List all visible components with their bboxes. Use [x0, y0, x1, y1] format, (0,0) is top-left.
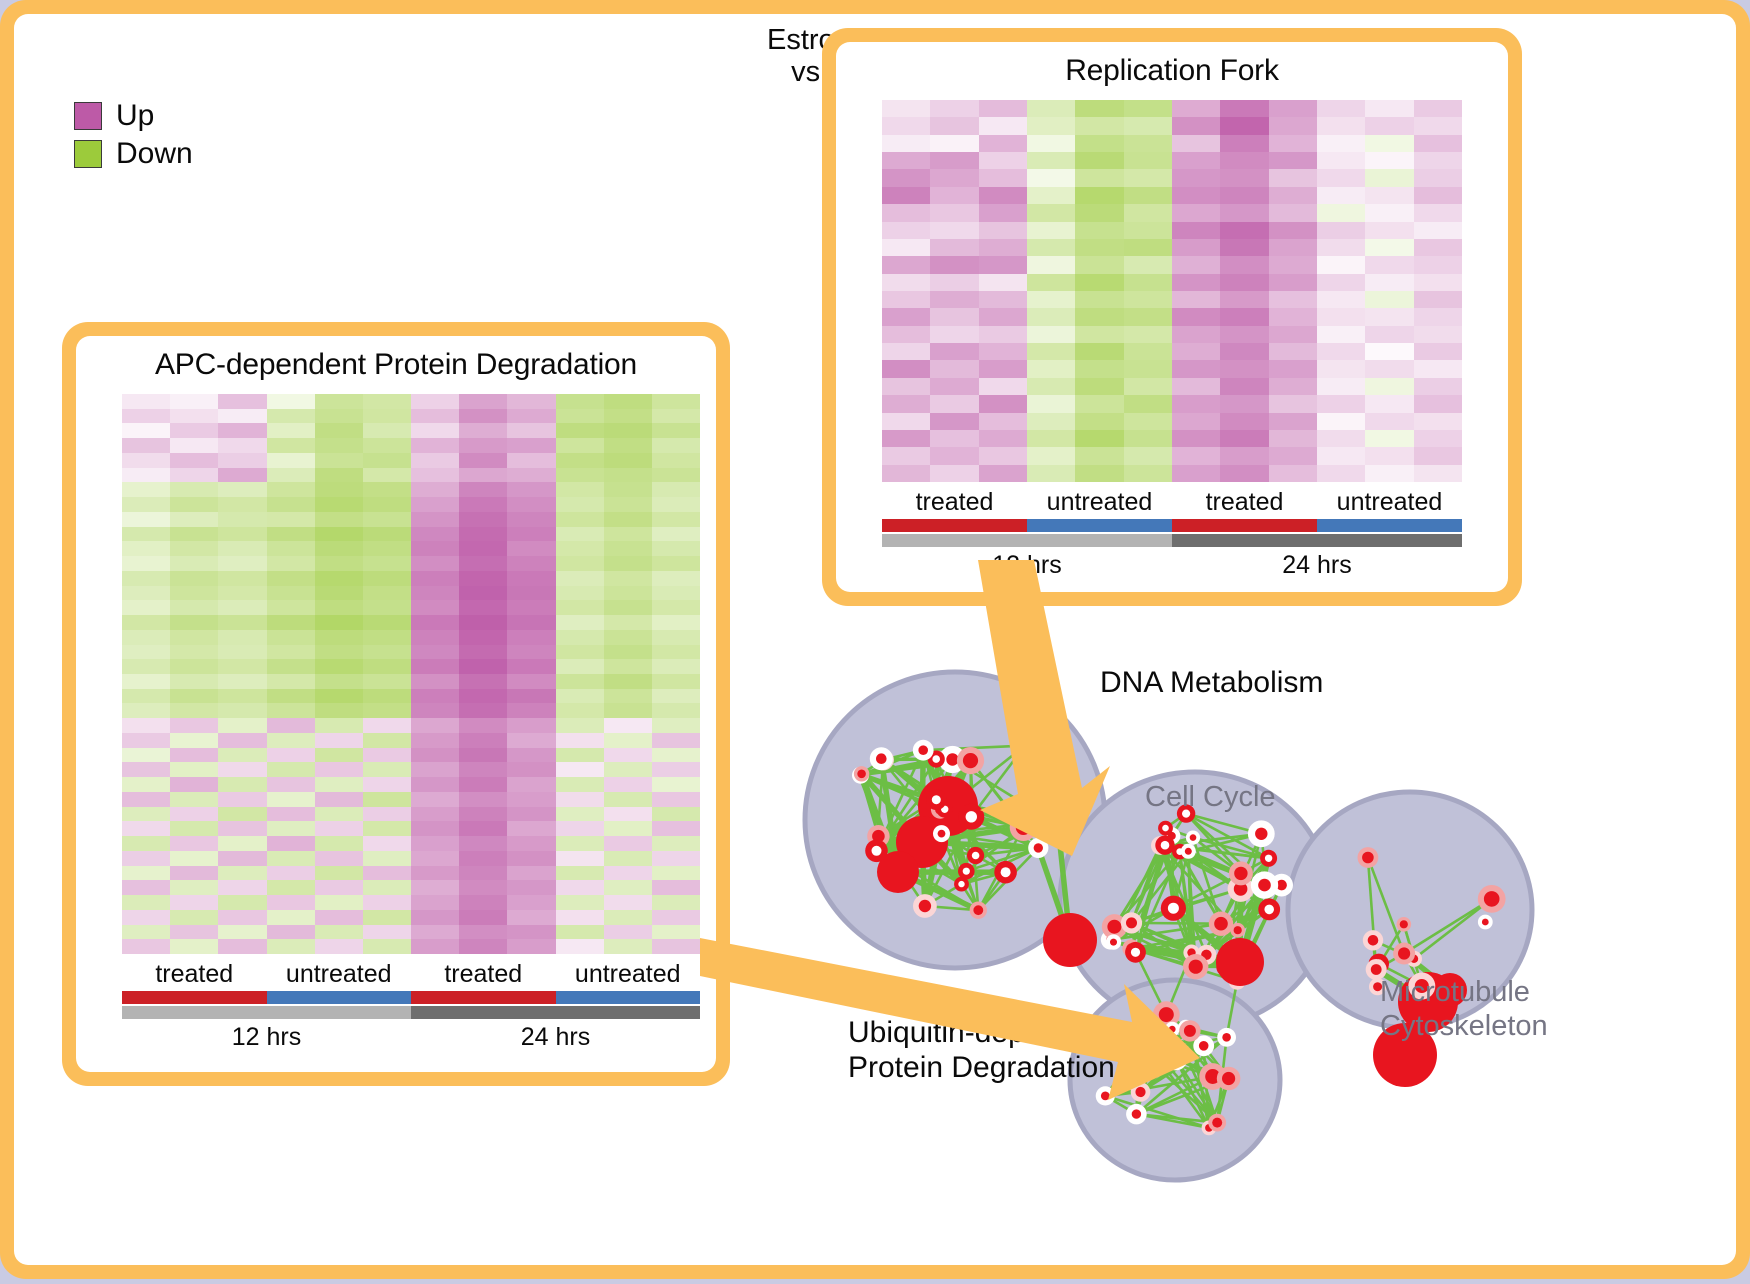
heat-cell [122, 674, 170, 689]
heat-cell [315, 453, 363, 468]
heat-cell [1124, 326, 1172, 343]
heat-cell [122, 762, 170, 777]
heat-cell [556, 453, 604, 468]
heat-cell [363, 807, 411, 822]
heat-cell [363, 438, 411, 453]
heat-cell [1414, 274, 1462, 291]
heat-cell [170, 423, 218, 438]
heat-cell [1317, 308, 1365, 325]
heat-cell [122, 807, 170, 822]
heat-cell [1365, 430, 1413, 447]
heat-cell [604, 571, 652, 586]
heat-cell [1027, 378, 1075, 395]
heat-cell [652, 939, 700, 954]
heat-cell [882, 447, 930, 464]
heat-cell [170, 674, 218, 689]
heat-cell [979, 100, 1027, 117]
heat-cell [604, 762, 652, 777]
heat-cell [604, 674, 652, 689]
heat-cell [459, 703, 507, 718]
heat-cell [218, 836, 266, 851]
heat-cell [930, 256, 978, 273]
heat-cell [979, 152, 1027, 169]
heat-cell [170, 571, 218, 586]
network-node[interactable] [1258, 899, 1280, 921]
heat-cell [1172, 256, 1220, 273]
heat-cell [507, 482, 555, 497]
heat-cell [170, 659, 218, 674]
heat-cell [556, 586, 604, 601]
heat-cell [1124, 291, 1172, 308]
heat-cell [1365, 274, 1413, 291]
heat-cell [267, 880, 315, 895]
heat-cell [267, 482, 315, 497]
heat-cell [363, 659, 411, 674]
heat-cell [507, 807, 555, 822]
heat-cell [556, 674, 604, 689]
heat-cell [1220, 222, 1268, 239]
heat-cell [507, 527, 555, 542]
heat-cell [507, 423, 555, 438]
heat-cell [170, 718, 218, 733]
heat-cell [652, 910, 700, 925]
heat-cell [218, 895, 266, 910]
heat-cell [604, 394, 652, 409]
heat-cell [1414, 413, 1462, 430]
heat-cell [218, 600, 266, 615]
heat-cell [363, 571, 411, 586]
heat-cell [882, 135, 930, 152]
heat-cell [507, 939, 555, 954]
heat-cell [507, 615, 555, 630]
heat-cell [267, 438, 315, 453]
heat-cell [1220, 395, 1268, 412]
network-node[interactable] [994, 861, 1017, 884]
heat-cell [1317, 360, 1365, 377]
network-node[interactable] [913, 740, 934, 761]
heat-cell [1365, 256, 1413, 273]
heat-cell [652, 615, 700, 630]
heat-cell [507, 409, 555, 424]
heat-cell [170, 851, 218, 866]
heat-cell [170, 586, 218, 601]
apc-panel-title: APC-dependent Protein Degradation [76, 336, 716, 382]
heat-cell [218, 910, 266, 925]
heat-cell [1027, 413, 1075, 430]
heat-cell [363, 409, 411, 424]
heat-cell [979, 239, 1027, 256]
heat-cell [122, 718, 170, 733]
heat-cell [411, 880, 459, 895]
heat-cell [411, 541, 459, 556]
heat-cell [1269, 465, 1317, 482]
heat-cell [1172, 308, 1220, 325]
heat-cell [652, 689, 700, 704]
heat-cell [411, 409, 459, 424]
heat-cell [218, 453, 266, 468]
heat-cell [930, 135, 978, 152]
apc-timepoint-bar [122, 1006, 700, 1019]
heat-cell [652, 453, 700, 468]
heat-cell [411, 394, 459, 409]
heat-cell [652, 394, 700, 409]
heat-cell [122, 512, 170, 527]
heat-cell [1220, 378, 1268, 395]
apc-time-label-12: 12 hrs [122, 1023, 411, 1052]
heat-cell [1365, 326, 1413, 343]
heat-cell [652, 836, 700, 851]
heat-cell [363, 939, 411, 954]
heat-cell [267, 925, 315, 940]
heat-cell [604, 733, 652, 748]
heat-cell [930, 152, 978, 169]
heat-cell [1124, 187, 1172, 204]
heat-cell [218, 880, 266, 895]
heat-cell [218, 851, 266, 866]
heat-cell [411, 571, 459, 586]
heat-cell [315, 600, 363, 615]
heat-cell [604, 807, 652, 822]
heat-cell [1075, 135, 1123, 152]
heat-cell [459, 674, 507, 689]
heat-cell [411, 792, 459, 807]
heat-cell [604, 600, 652, 615]
network-node[interactable] [1229, 861, 1253, 885]
heat-cell [1124, 360, 1172, 377]
treatment-bar-segment [267, 991, 412, 1004]
heat-cell [1365, 117, 1413, 134]
heat-cell [1075, 308, 1123, 325]
heat-cell [218, 762, 266, 777]
heat-cell [459, 394, 507, 409]
heat-cell [930, 222, 978, 239]
heat-cell [170, 556, 218, 571]
heat-cell [411, 689, 459, 704]
rf-group-label-2: treated [1172, 488, 1317, 517]
heat-cell [930, 360, 978, 377]
heat-cell [556, 512, 604, 527]
heat-cell [267, 895, 315, 910]
heat-cell [1075, 169, 1123, 186]
heat-cell [1220, 152, 1268, 169]
heat-cell [1172, 343, 1220, 360]
heat-cell [1220, 169, 1268, 186]
heat-cell [411, 600, 459, 615]
network-node[interactable] [1251, 871, 1278, 898]
heat-cell [1269, 152, 1317, 169]
apc-time-label-24: 24 hrs [411, 1023, 700, 1052]
heat-cell [1365, 360, 1413, 377]
heat-cell [315, 866, 363, 881]
heat-cell [930, 291, 978, 308]
heat-cell [122, 851, 170, 866]
heat-cell [459, 895, 507, 910]
heat-cell [1172, 117, 1220, 134]
network-node[interactable] [1478, 885, 1506, 913]
heat-cell [1317, 447, 1365, 464]
heat-cell [122, 748, 170, 763]
heat-cell [507, 438, 555, 453]
network-node[interactable] [1181, 844, 1196, 859]
heat-cell [363, 748, 411, 763]
heat-cell [218, 571, 266, 586]
heat-cell [315, 703, 363, 718]
arrow-shape-apc [700, 938, 1200, 1100]
heat-cell [1414, 256, 1462, 273]
heat-cell [1365, 152, 1413, 169]
heat-cell [218, 409, 266, 424]
heat-cell [459, 939, 507, 954]
heat-cell [267, 851, 315, 866]
network-node[interactable] [854, 766, 869, 781]
heat-cell [604, 497, 652, 512]
heat-cell [1414, 169, 1462, 186]
replication-fork-body: Replication Fork treated untreated treat… [836, 42, 1508, 592]
heat-cell [459, 777, 507, 792]
heat-cell [459, 880, 507, 895]
heat-cell [1124, 447, 1172, 464]
heat-cell [122, 689, 170, 704]
heat-cell [315, 880, 363, 895]
heat-cell [1317, 100, 1365, 117]
heat-cell [556, 821, 604, 836]
heat-cell [411, 748, 459, 763]
treatment-bar-segment [1172, 519, 1317, 532]
heat-cell [363, 703, 411, 718]
heat-cell [556, 527, 604, 542]
heat-cell [882, 100, 930, 117]
heat-cell [122, 880, 170, 895]
heat-cell [1269, 413, 1317, 430]
heat-cell [459, 453, 507, 468]
heat-cell [363, 453, 411, 468]
heat-cell [459, 497, 507, 512]
network-node[interactable] [1260, 850, 1277, 867]
heat-cell [459, 762, 507, 777]
heat-cell [363, 777, 411, 792]
network-node[interactable] [926, 789, 947, 810]
heat-cell [315, 394, 363, 409]
heat-cell [1317, 343, 1365, 360]
heat-cell [556, 777, 604, 792]
heat-cell [1027, 326, 1075, 343]
heat-cell [267, 866, 315, 881]
heat-cell [363, 792, 411, 807]
heat-cell [556, 541, 604, 556]
heat-cell [1027, 222, 1075, 239]
heat-cell [218, 615, 266, 630]
apc-time-labels: 12 hrs 24 hrs [122, 1023, 700, 1052]
heat-cell [507, 762, 555, 777]
heat-cell [507, 674, 555, 689]
heat-cell [604, 586, 652, 601]
heat-cell [267, 468, 315, 483]
heat-cell [363, 895, 411, 910]
heat-cell [882, 256, 930, 273]
heat-cell [218, 468, 266, 483]
heat-cell [363, 586, 411, 601]
heat-cell [315, 423, 363, 438]
heat-cell [556, 762, 604, 777]
heat-cell [363, 512, 411, 527]
heat-cell [652, 807, 700, 822]
heat-cell [363, 733, 411, 748]
heat-cell [170, 836, 218, 851]
heat-cell [930, 465, 978, 482]
heat-cell [267, 541, 315, 556]
network-node[interactable] [1397, 917, 1412, 932]
heat-cell [1269, 308, 1317, 325]
heat-cell [122, 482, 170, 497]
heat-cell [979, 326, 1027, 343]
heat-cell [315, 939, 363, 954]
network-node[interactable] [1363, 930, 1383, 950]
heat-cell [556, 866, 604, 881]
heat-cell [604, 925, 652, 940]
timepoint-bar-segment [122, 1006, 411, 1019]
heat-cell [170, 703, 218, 718]
heat-cell [315, 541, 363, 556]
heat-cell [170, 910, 218, 925]
heat-cell [652, 541, 700, 556]
network-node[interactable] [958, 863, 975, 880]
network-node[interactable] [1393, 943, 1415, 965]
heat-cell [507, 718, 555, 733]
heat-cell [218, 718, 266, 733]
heat-cell [1269, 395, 1317, 412]
treatment-bar-segment [411, 991, 556, 1004]
heat-cell [979, 308, 1027, 325]
heat-cell [1027, 465, 1075, 482]
network-node[interactable] [933, 825, 950, 842]
heat-cell [930, 239, 978, 256]
heat-cell [979, 204, 1027, 221]
heat-cell [459, 409, 507, 424]
heat-cell [930, 430, 978, 447]
network-node[interactable] [870, 747, 893, 770]
heat-cell [122, 733, 170, 748]
heat-cell [507, 571, 555, 586]
heat-cell [411, 807, 459, 822]
heat-cell [882, 378, 930, 395]
heat-cell [218, 527, 266, 542]
heat-cell [1365, 447, 1413, 464]
heat-cell [459, 645, 507, 660]
heat-cell [604, 659, 652, 674]
heat-cell [1220, 308, 1268, 325]
heat-cell [1027, 100, 1075, 117]
heat-cell [122, 556, 170, 571]
network-node[interactable] [1358, 847, 1379, 868]
heat-cell [411, 925, 459, 940]
heat-cell [363, 718, 411, 733]
heat-cell [122, 703, 170, 718]
heat-cell [315, 571, 363, 586]
heat-cell [556, 615, 604, 630]
heat-cell [411, 527, 459, 542]
heat-cell [411, 468, 459, 483]
heat-cell [170, 394, 218, 409]
heat-cell [979, 430, 1027, 447]
heat-cell [1075, 274, 1123, 291]
heat-cell [218, 541, 266, 556]
heat-cell [507, 468, 555, 483]
heat-cell [411, 762, 459, 777]
heat-cell [1075, 343, 1123, 360]
rf-group-label-1: untreated [1027, 488, 1172, 517]
heat-cell [1220, 187, 1268, 204]
heat-cell [882, 430, 930, 447]
heat-cell [556, 895, 604, 910]
network-node[interactable] [1478, 915, 1493, 930]
heat-cell [411, 851, 459, 866]
heat-cell [1220, 256, 1268, 273]
heat-cell [1365, 378, 1413, 395]
heat-cell [170, 645, 218, 660]
heat-cell [882, 343, 930, 360]
heat-cell [1124, 152, 1172, 169]
heat-cell [267, 777, 315, 792]
heat-cell [411, 939, 459, 954]
heat-cell [652, 925, 700, 940]
heat-cell [267, 939, 315, 954]
replication-fork-title: Replication Fork [836, 42, 1508, 88]
heat-cell [1269, 169, 1317, 186]
apc-panel: APC-dependent Protein Degradation treate… [62, 322, 730, 1086]
heat-cell [930, 413, 978, 430]
arrow-shape-rf [978, 560, 1110, 856]
network-node[interactable] [1186, 831, 1200, 845]
heat-cell [507, 659, 555, 674]
heat-cell [1317, 239, 1365, 256]
heat-cell [979, 256, 1027, 273]
heat-cell [363, 394, 411, 409]
heat-cell [604, 512, 652, 527]
heat-cell [507, 836, 555, 851]
heat-cell [1220, 291, 1268, 308]
heat-cell [930, 395, 978, 412]
heat-cell [1269, 222, 1317, 239]
heat-cell [459, 541, 507, 556]
connector-arrow-apc [700, 900, 1260, 1120]
heat-cell [411, 512, 459, 527]
heat-cell [315, 409, 363, 424]
heat-cell [652, 423, 700, 438]
heat-cell [1027, 256, 1075, 273]
treatment-bar-segment [882, 519, 1027, 532]
heat-cell [652, 777, 700, 792]
heat-cell [556, 733, 604, 748]
heat-cell [459, 807, 507, 822]
replication-fork-heatmap [882, 100, 1462, 482]
network-node[interactable] [865, 840, 888, 863]
network-node[interactable] [1248, 820, 1275, 847]
heat-cell [170, 807, 218, 822]
heat-cell [267, 586, 315, 601]
heat-cell [882, 274, 930, 291]
heat-cell [459, 571, 507, 586]
heat-cell [218, 659, 266, 674]
heat-cell [459, 718, 507, 733]
heat-cell [363, 851, 411, 866]
heat-cell [411, 836, 459, 851]
heat-cell [556, 718, 604, 733]
heat-cell [122, 630, 170, 645]
heat-cell [459, 792, 507, 807]
heat-cell [979, 378, 1027, 395]
heat-cell [122, 468, 170, 483]
heat-cell [1172, 465, 1220, 482]
